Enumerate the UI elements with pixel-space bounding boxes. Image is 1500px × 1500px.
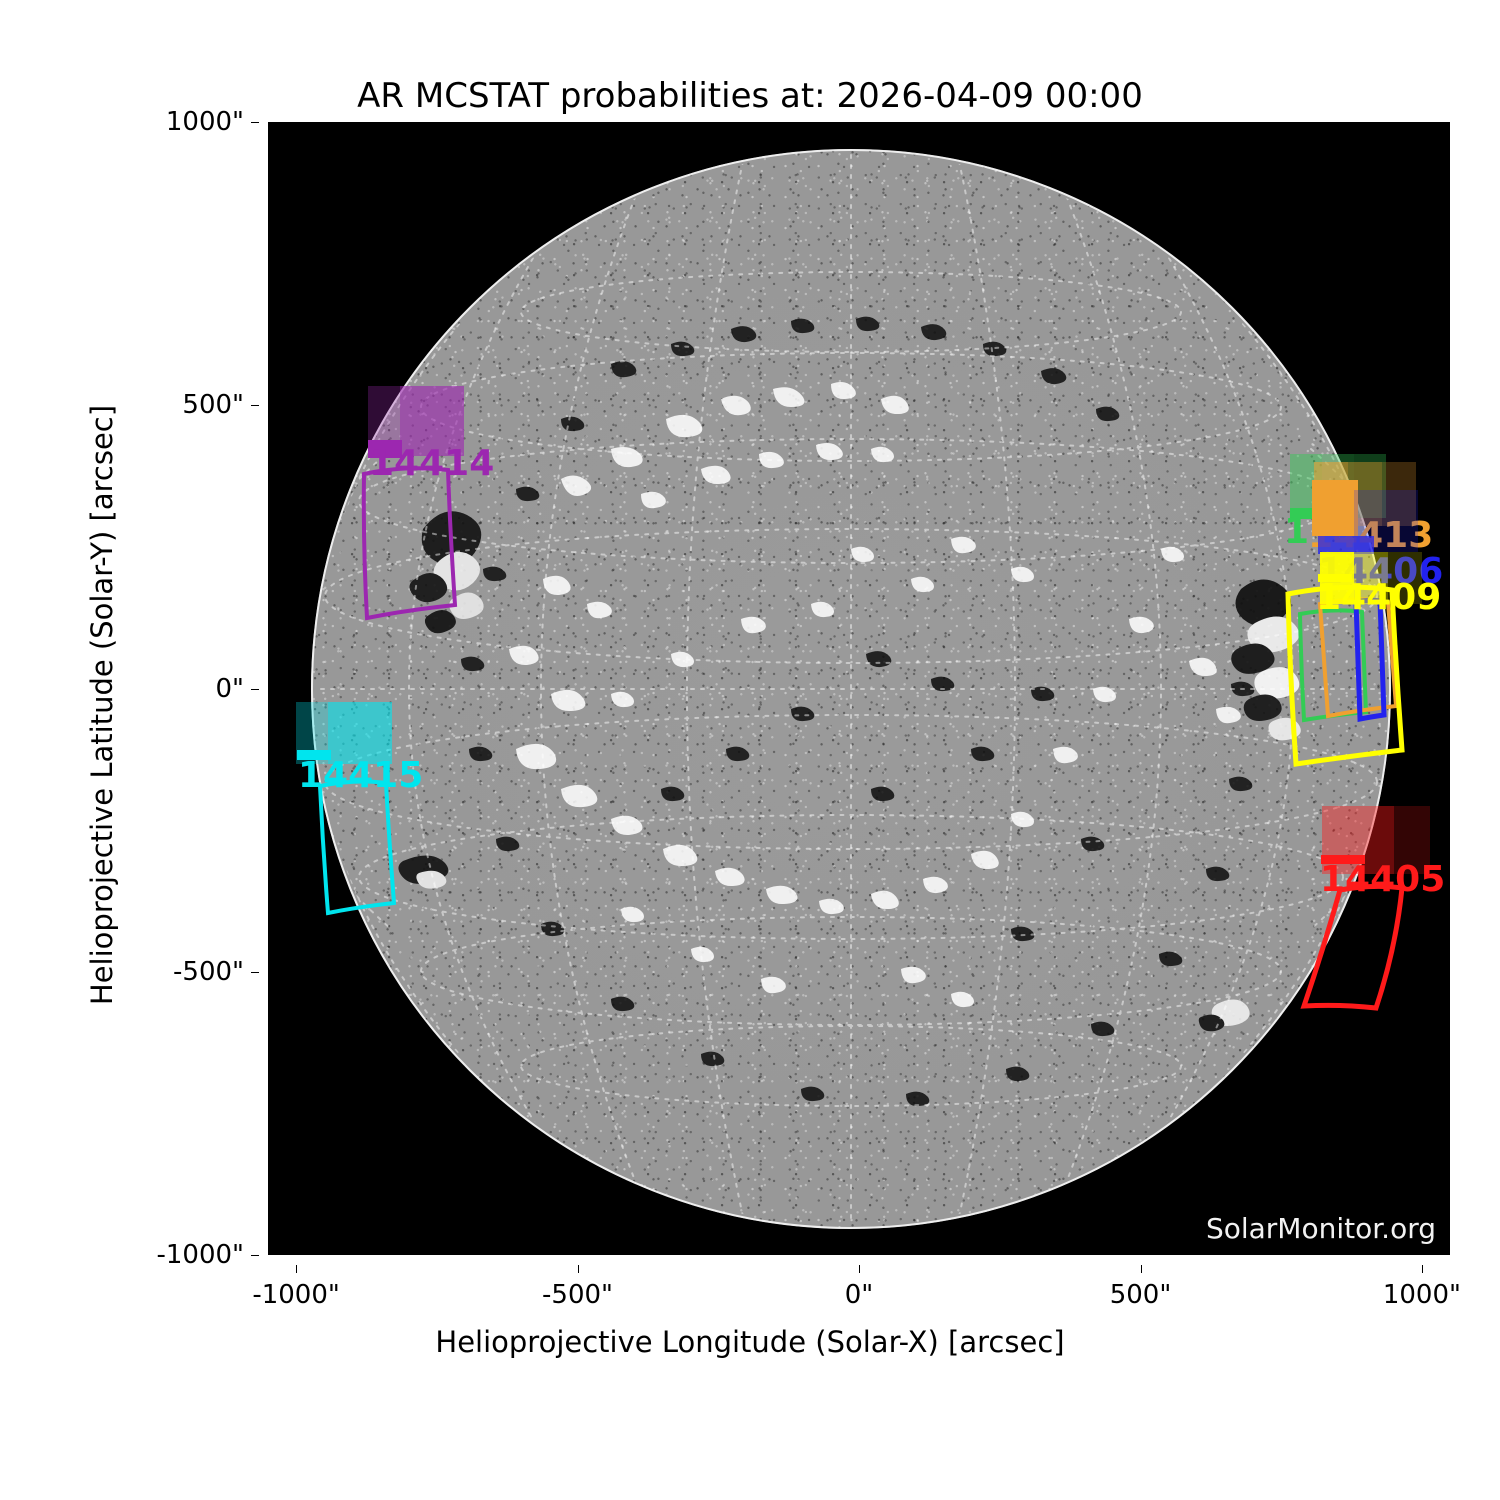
y-tick: 500" — [182, 390, 258, 420]
y-tickmark — [251, 689, 259, 690]
x-tickmark — [1141, 1265, 1142, 1273]
prob-cell-x — [1388, 552, 1422, 604]
x-axis-ticks: -1000" -500" 0" 500" 1000" — [268, 1266, 1450, 1306]
y-tickmark — [251, 972, 259, 973]
y-tickmark — [251, 122, 259, 123]
y-tick: -1000" — [156, 1240, 258, 1270]
y-tick: -500" — [173, 957, 258, 987]
x-axis-title: Helioprojective Longitude (Solar-X) [arc… — [0, 1325, 1500, 1359]
y-tickmark — [251, 1255, 259, 1256]
solar-disk — [311, 149, 1391, 1229]
x-tickmark — [859, 1265, 860, 1273]
magnetic-network — [311, 149, 1391, 1229]
solar-magnetogram-figure: AR MCSTAT probabilities at: 2026-04-09 0… — [0, 0, 1500, 1500]
watermark: SolarMonitor.org — [1206, 1212, 1436, 1245]
prob-cell-x — [1394, 806, 1430, 874]
y-tickmark — [251, 405, 259, 406]
y-tick: 1000" — [166, 107, 258, 137]
x-tickmark — [1422, 1265, 1423, 1273]
plot-axes[interactable]: 14414 14415 1 — [268, 122, 1450, 1255]
y-axis-title: Helioprojective Latitude (Solar-Y) [arcs… — [85, 205, 119, 1205]
x-tickmark — [578, 1265, 579, 1273]
x-tickmark — [296, 1265, 297, 1273]
